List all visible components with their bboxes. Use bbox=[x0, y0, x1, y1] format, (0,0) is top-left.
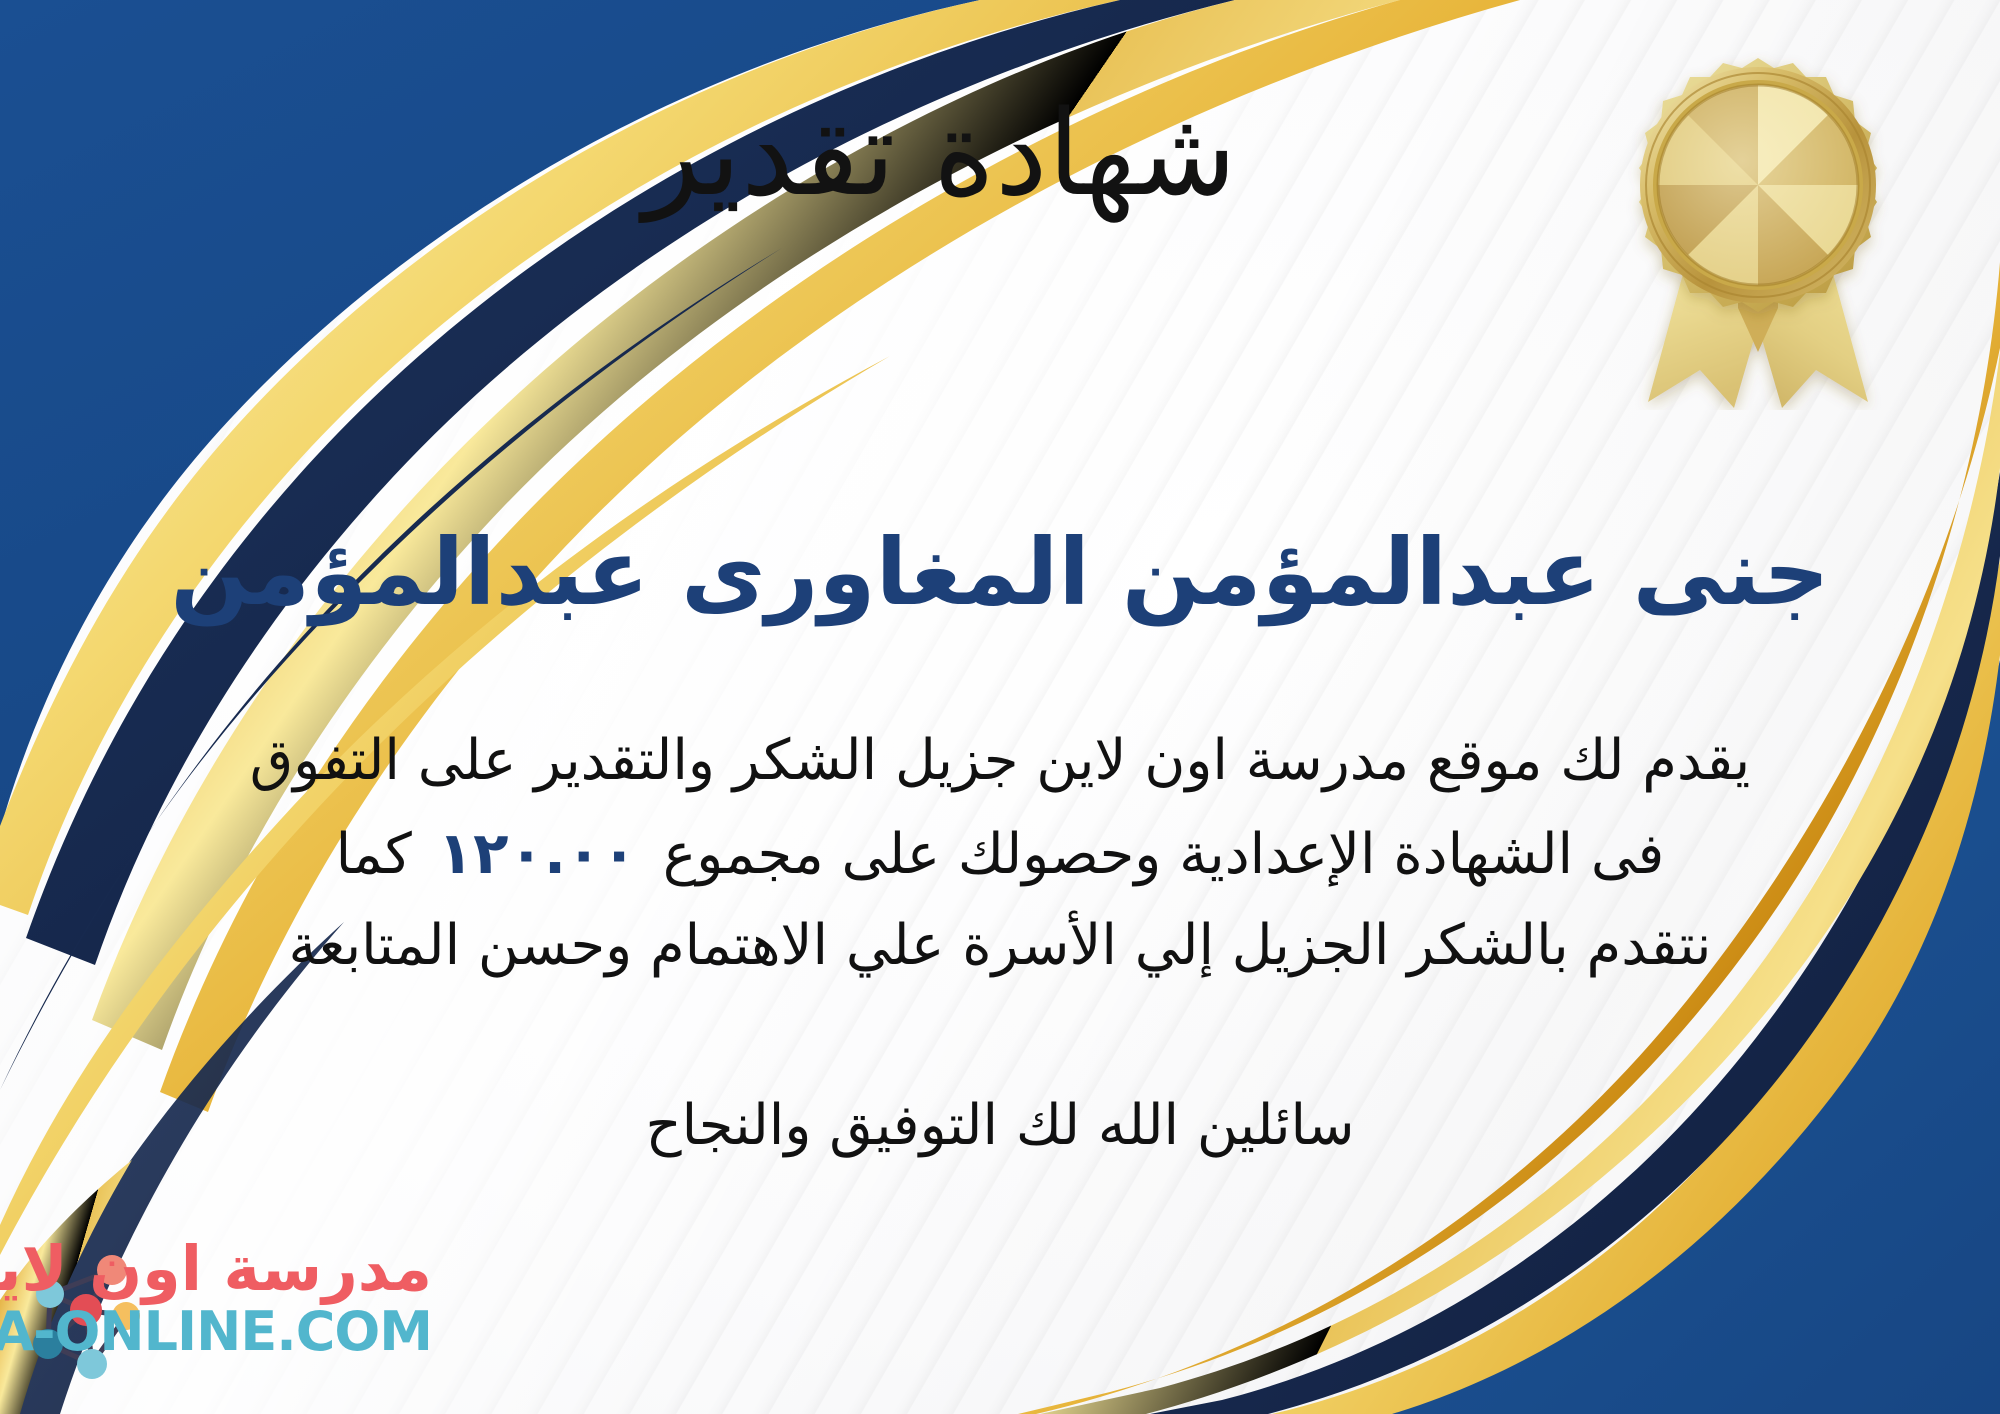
body-line-3: نتقدم بالشكر الجزيل إلي الأسرة علي الاهت… bbox=[60, 901, 1940, 992]
logo-text: مدرسة اون لاين MADRSA-ONLINE.COM bbox=[0, 1238, 432, 1361]
gold-medal-rosette-icon bbox=[1588, 40, 1928, 410]
grade-total-value: ١٢٠.٠٠ bbox=[412, 807, 663, 901]
body-line-2: فى الشهادة الإعدادية وحصولك على مجموع١٢٠… bbox=[60, 807, 1940, 901]
body-line-2-after-grade: كما bbox=[336, 822, 412, 887]
certificate-page: شهادة تقدير جنى عبدالمؤمن المغاورى عبدال… bbox=[0, 0, 2000, 1414]
closing-line: سائلين الله لك التوفيق والنجاح bbox=[0, 1093, 2000, 1158]
site-logo: مدرسة اون لاين MADRSA-ONLINE.COM bbox=[22, 1238, 552, 1398]
logo-website: MADRSA-ONLINE.COM bbox=[0, 1304, 432, 1361]
recipient-name: جنى عبدالمؤمن المغاورى عبدالمؤمن bbox=[0, 520, 2000, 626]
logo-arabic-name: مدرسة اون لاين bbox=[0, 1238, 432, 1300]
body-line-1: يقدم لك موقع مدرسة اون لاين جزيل الشكر و… bbox=[60, 716, 1940, 807]
certificate-body: يقدم لك موقع مدرسة اون لاين جزيل الشكر و… bbox=[60, 716, 1940, 991]
body-line-2-before-grade: فى الشهادة الإعدادية وحصولك على مجموع bbox=[663, 822, 1665, 887]
